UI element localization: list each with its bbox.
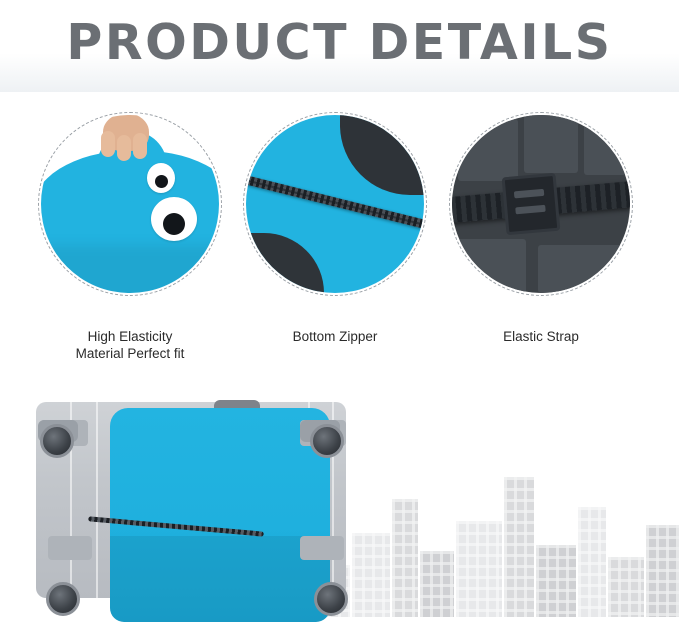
skyline-building	[578, 507, 606, 617]
shell-panel	[584, 121, 630, 175]
skyline-building	[646, 525, 679, 617]
skyline-building	[608, 557, 644, 617]
cartoon-eye-icon	[147, 163, 175, 193]
spinner-wheel	[46, 582, 80, 616]
shell-groove	[96, 402, 98, 598]
detail-block-elastic-strap: Elastic Strap	[449, 112, 633, 296]
caption-line-1: High Elasticity	[30, 328, 230, 345]
fabric-shadow	[41, 245, 219, 293]
cartoon-eye-icon	[151, 197, 197, 241]
detail-caption-bottom-zipper: Bottom Zipper	[235, 328, 435, 345]
detail-caption-high-elasticity: High Elasticity Material Perfect fit	[30, 328, 230, 362]
shell-panel	[524, 115, 578, 173]
shell-panel	[458, 119, 518, 181]
detail-image-high-elasticity	[38, 112, 222, 296]
buckle-icon	[502, 173, 561, 235]
detail-image-bottom-zipper	[243, 112, 427, 296]
caption-line-1: Elastic Strap	[441, 328, 641, 345]
shell-panel	[538, 245, 630, 293]
shell-panel	[456, 239, 526, 293]
spinner-wheel	[310, 424, 344, 458]
title-band: PRODUCT DETAILS	[0, 0, 679, 92]
detail-block-high-elasticity: High Elasticity Material Perfect fit	[38, 112, 222, 296]
dashed-circle-border	[38, 112, 222, 296]
corner-guard	[300, 536, 344, 560]
finger-icon	[101, 131, 115, 157]
suitcase-with-cover	[18, 386, 538, 636]
caption-line-1: Bottom Zipper	[235, 328, 435, 345]
dashed-circle-border	[449, 112, 633, 296]
page-title: PRODUCT DETAILS	[0, 14, 679, 71]
skyline-building	[536, 545, 576, 617]
caption-line-2: Material Perfect fit	[30, 345, 230, 362]
hero-product-image	[0, 372, 679, 643]
detail-caption-elastic-strap: Elastic Strap	[441, 328, 641, 345]
spinner-wheel	[314, 582, 348, 616]
detail-block-bottom-zipper: Bottom Zipper	[243, 112, 427, 296]
product-details-page: PRODUCT DETAILS	[0, 0, 679, 643]
dashed-circle-border	[243, 112, 427, 296]
finger-icon	[117, 135, 131, 161]
detail-image-elastic-strap	[449, 112, 633, 296]
spinner-wheel	[40, 424, 74, 458]
finger-icon	[133, 133, 147, 159]
corner-guard	[48, 536, 92, 560]
cover-shadow	[110, 536, 330, 622]
